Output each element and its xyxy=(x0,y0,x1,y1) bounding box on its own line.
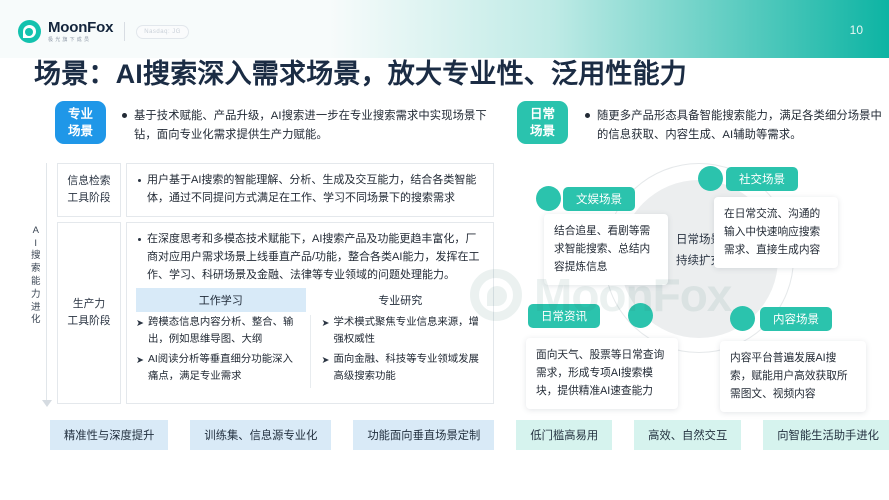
category-badge-professional: 专业 场景 xyxy=(55,101,106,144)
list-item-text: 跨模态信息内容分析、整合、输出，例如思维导图、大纲 xyxy=(148,315,300,349)
footer-tag[interactable]: 向智能生活助手进化 xyxy=(763,420,889,450)
node-card-news: 面向天气、股票等日常查询需求，形成专项AI搜索模块，提供精准AI速查能力 xyxy=(526,338,678,409)
stage-bullet-text: 用户基于AI搜索的智能理解、分析、生成及交互能力，结合各类智能体，通过不同提问方… xyxy=(147,172,483,208)
lead-daily: 随更多产品形态具备智能搜索能力，满足各类细分场景中的信息获取、内容生成、AI辅助… xyxy=(585,107,885,144)
node-dot-social-icon xyxy=(698,166,723,191)
daily-scenario-diagram: 日常场景 持续扩充 文娱场景 结合追星、看剧等需求智能搜索、总结内容提炼信息 社… xyxy=(508,158,886,410)
badge-line-2: 场景 xyxy=(68,123,93,140)
lead-professional: 基于技术赋能、产品升级，AI搜索进一步在专业搜索需求中实现场景下钻，面向专业化需… xyxy=(122,107,494,144)
stage-name-line2: 工具阶段 xyxy=(67,313,110,330)
arrow-bullet-icon: ➤ xyxy=(136,353,144,368)
lead-daily-text: 随更多产品形态具备智能搜索能力，满足各类细分场景中的信息获取、内容生成、AI辅助… xyxy=(597,107,885,144)
axis-char: 能 xyxy=(31,276,41,289)
stage-name-line1: 生产力 xyxy=(67,296,110,313)
list-item: ➤ 跨模态信息内容分析、整合、输出，例如思维导图、大纲 xyxy=(136,315,300,349)
sub-panel-columns: ➤ 跨模态信息内容分析、整合、输出，例如思维导图、大纲 ➤ AI阅读分析等垂直细… xyxy=(136,315,485,388)
footer-tag[interactable]: 高效、自然交互 xyxy=(634,420,741,450)
bullet-dot-icon xyxy=(138,238,141,241)
axis-char: 进 xyxy=(31,302,41,315)
category-badge-daily: 日常 场景 xyxy=(517,101,568,144)
arrow-bullet-icon: ➤ xyxy=(322,316,330,331)
stage-name-line2: 工具阶段 xyxy=(67,190,110,207)
moonfox-logo-icon xyxy=(18,20,41,43)
arrow-bullet-icon: ➤ xyxy=(136,316,144,331)
list-item-text: 学术模式聚焦专业信息来源，增强权威性 xyxy=(333,315,485,349)
sub-panel-header-work-study: 工作学习 xyxy=(136,288,306,312)
node-card-entertainment: 结合追星、看剧等需求智能搜索、总结内容提炼信息 xyxy=(544,214,668,285)
bullet-dot-icon xyxy=(122,113,127,118)
stage-bullet: 在深度思考和多模态技术赋能下，AI搜索产品及功能更趋丰富化，厂商对应用户需求场景… xyxy=(138,231,482,284)
node-dot-content-icon xyxy=(730,306,755,331)
node-dot-entertainment-icon xyxy=(536,186,561,211)
list-item: ➤ AI阅读分析等垂直细分功能深入痛点，满足专业需求 xyxy=(136,352,300,386)
sub-panel-column-work-study: ➤ 跨模态信息内容分析、整合、输出，例如思维导图、大纲 ➤ AI阅读分析等垂直细… xyxy=(136,315,300,388)
nasdaq-badge: Nasdaq: JG xyxy=(136,25,189,39)
node-card-content: 内容平台普遍发展AI搜索，赋能用户高效获取所需图文、视频内容 xyxy=(720,341,866,412)
footer-tag-row: 精准性与深度提升 训练集、信息源专业化 功能面向垂直场景定制 低门槛高易用 高效… xyxy=(50,420,889,450)
arrow-bullet-icon: ➤ xyxy=(322,353,330,368)
stage-label-productivity: 生产力 工具阶段 xyxy=(57,222,121,404)
header-band-gradient xyxy=(329,0,889,58)
logo-divider xyxy=(124,22,125,41)
slide-root: MoonFox 极光旗下成员 Nasdaq: JG 10 场景：AI搜索深入需求… xyxy=(0,0,889,500)
list-item: ➤ 学术模式聚焦专业信息来源，增强权威性 xyxy=(322,315,486,349)
node-label-content[interactable]: 内容场景 xyxy=(760,307,832,331)
list-item-text: 面向金融、科技等专业领域发展高级搜索功能 xyxy=(333,352,485,386)
badge-line-2: 场景 xyxy=(530,123,555,140)
stage-bullet-text: 在深度思考和多模态技术赋能下，AI搜索产品及功能更趋丰富化，厂商对应用户需求场景… xyxy=(147,231,482,284)
axis-char: A xyxy=(33,225,40,238)
lead-professional-text: 基于技术赋能、产品升级，AI搜索进一步在专业搜索需求中实现场景下钻，面向专业化需… xyxy=(134,107,494,144)
brand-subtitle: 极光旗下成员 xyxy=(48,38,113,43)
footer-tag[interactable]: 训练集、信息源专业化 xyxy=(190,420,331,450)
node-dot-news-icon xyxy=(628,303,653,328)
node-label-entertainment[interactable]: 文娱场景 xyxy=(563,187,635,211)
stage-label-retrieval: 信息检索 工具阶段 xyxy=(57,163,121,217)
evolution-axis-label: A I 搜 索 能 力 进 化 xyxy=(28,196,44,356)
axis-char: 索 xyxy=(31,263,41,276)
node-label-social[interactable]: 社交场景 xyxy=(726,167,798,191)
badge-line-1: 专业 xyxy=(68,106,93,123)
brand-logo: MoonFox 极光旗下成员 Nasdaq: JG xyxy=(18,20,189,43)
page-title: 场景：AI搜索深入需求场景，放大专业性、泛用性能力 xyxy=(34,52,687,91)
node-label-news[interactable]: 日常资讯 xyxy=(528,304,600,328)
sub-panel-column-research: ➤ 学术模式聚焦专业信息来源，增强权威性 ➤ 面向金融、科技等专业领域发展高级搜… xyxy=(310,315,486,388)
node-card-social: 在日常交流、沟通的输入中快速响应搜索需求、直接生成内容 xyxy=(714,197,838,268)
list-item: ➤ 面向金融、科技等专业领域发展高级搜索功能 xyxy=(322,352,486,386)
axis-char: 力 xyxy=(31,289,41,302)
sub-panel-header-research: 专业研究 xyxy=(316,288,486,312)
page-number: 10 xyxy=(850,23,863,37)
footer-tag[interactable]: 精准性与深度提升 xyxy=(50,420,168,450)
axis-char: 搜 xyxy=(31,250,41,263)
footer-tag[interactable]: 功能面向垂直场景定制 xyxy=(353,420,494,450)
brand-name: MoonFox xyxy=(48,20,113,35)
axis-char: 化 xyxy=(31,314,41,327)
bullet-dot-icon xyxy=(138,179,141,182)
axis-char: I xyxy=(34,238,37,251)
list-item-text: AI阅读分析等垂直细分功能深入痛点，满足专业需求 xyxy=(148,352,300,386)
evolution-axis-arrow-icon xyxy=(42,400,52,407)
evolution-axis-line xyxy=(46,163,47,403)
brand-text: MoonFox 极光旗下成员 xyxy=(48,20,113,43)
sub-panel-headers: 工作学习 专业研究 xyxy=(136,288,485,312)
stage-bullet: 用户基于AI搜索的智能理解、分析、生成及交互能力，结合各类智能体，通过不同提问方… xyxy=(138,172,483,208)
footer-tag[interactable]: 低门槛高易用 xyxy=(516,420,612,450)
stage-body-retrieval: 用户基于AI搜索的智能理解、分析、生成及交互能力，结合各类智能体，通过不同提问方… xyxy=(126,163,494,217)
bullet-dot-icon xyxy=(585,113,590,118)
stage-name-line1: 信息检索 xyxy=(67,173,110,190)
badge-line-1: 日常 xyxy=(530,106,555,123)
